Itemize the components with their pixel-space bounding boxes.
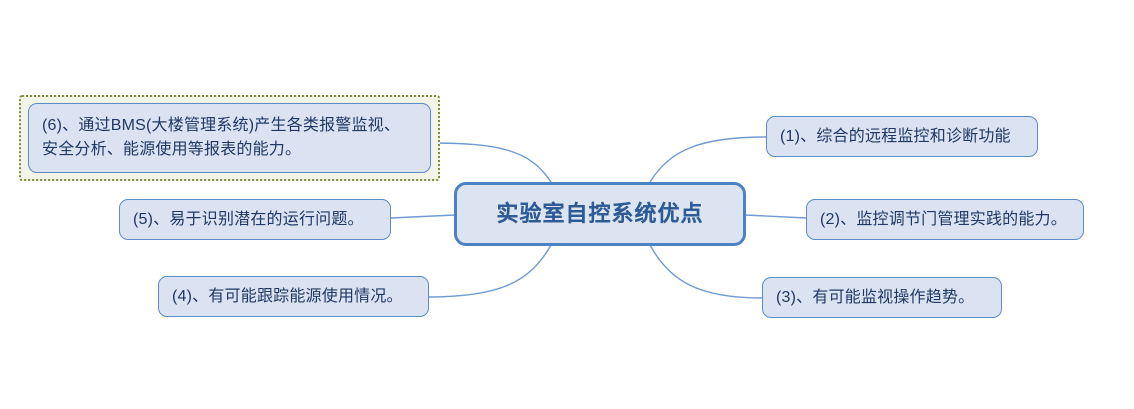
mindmap-node-branch-4[interactable]: (4)、有可能跟踪能源使用情况。 (158, 276, 429, 317)
mindmap-node-center[interactable]: 实验室自控系统优点 (454, 182, 746, 246)
mindmap-node-branch-1[interactable]: (1)、综合的远程监控和诊断功能 (766, 116, 1038, 157)
mindmap-node-branch-5[interactable]: (5)、易于识别潜在的运行问题。 (119, 199, 391, 240)
mindmap-node-branch-2[interactable]: (2)、监控调节门管理实践的能力。 (806, 199, 1084, 240)
connector-center-to-branch-5 (391, 215, 455, 218)
connector-center-to-branch-2 (745, 215, 806, 218)
connector-center-to-branch-6 (428, 143, 551, 182)
connector-center-to-branch-4 (428, 245, 551, 297)
mindmap-node-branch-6[interactable]: (6)、通过BMS(大楼管理系统)产生各类报警监视、 安全分析、能源使用等报表的… (28, 103, 431, 173)
mindmap-canvas: (6)、通过BMS(大楼管理系统)产生各类报警监视、 安全分析、能源使用等报表的… (0, 0, 1134, 409)
mindmap-node-branch-3[interactable]: (3)、有可能监视操作趋势。 (762, 277, 1002, 318)
connector-center-to-branch-1 (650, 137, 766, 182)
connector-center-to-branch-3 (650, 245, 762, 298)
